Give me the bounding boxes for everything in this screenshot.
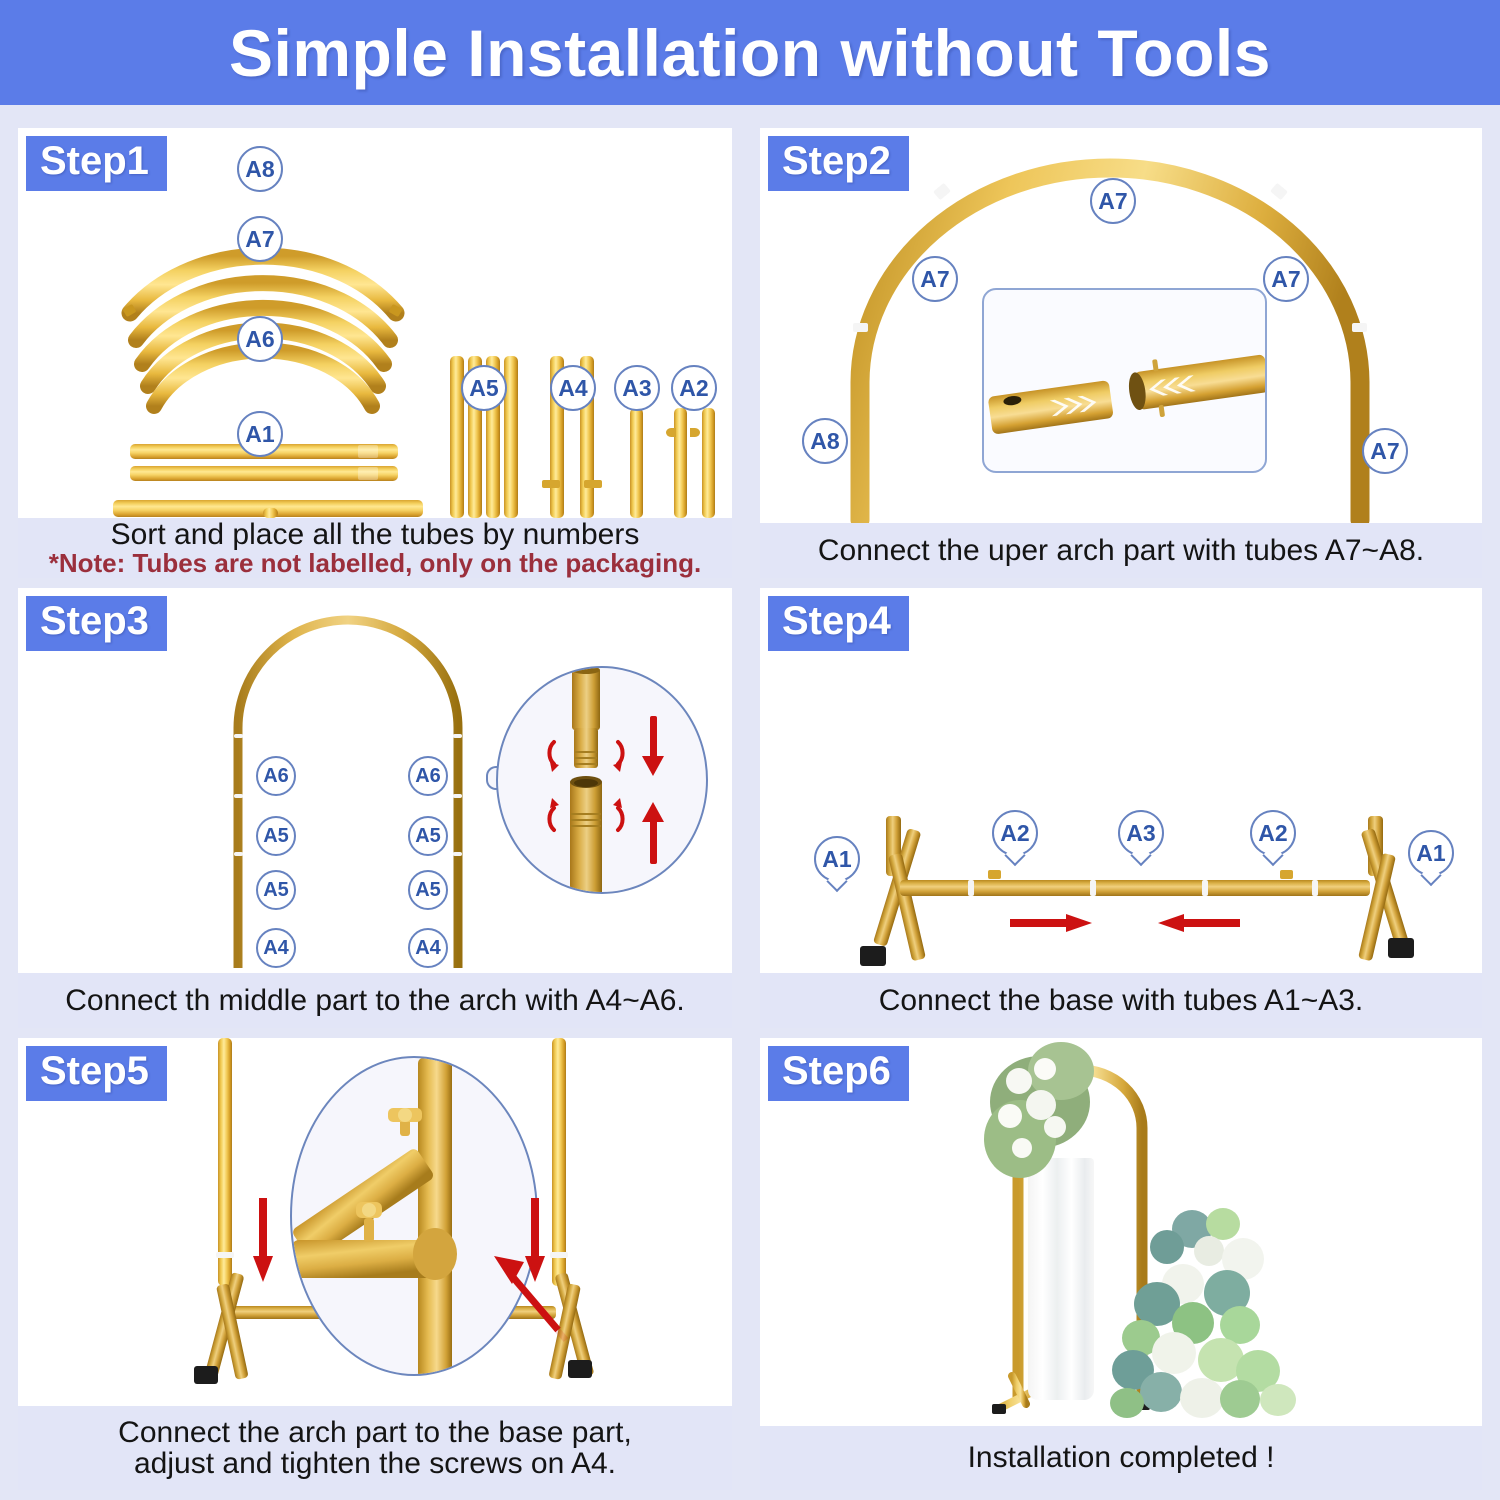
callout-a7-left: A7 bbox=[912, 256, 958, 302]
callout-a2: A2 bbox=[671, 365, 717, 411]
tube-a2 bbox=[702, 408, 715, 518]
balloon bbox=[1260, 1384, 1296, 1416]
tube-clip-icon bbox=[666, 428, 676, 437]
step6-panel: Step6 Installation completed ! bbox=[760, 1038, 1482, 1490]
arrow-down-left-icon bbox=[250, 1198, 278, 1284]
callout-a8-bottom-left: A8 bbox=[802, 418, 848, 464]
callout-a5: A5 bbox=[461, 365, 507, 411]
callout-left-a5: A5 bbox=[256, 816, 296, 856]
step4-caption: Connect the base with tubes A1~A3. bbox=[760, 973, 1482, 1028]
tube-a5 bbox=[504, 356, 518, 518]
step3-caption: Connect th middle part to the arch with … bbox=[18, 973, 732, 1028]
segment-joint-mark bbox=[234, 852, 243, 856]
segment-joint-mark bbox=[453, 734, 462, 738]
step1-badge: Step1 bbox=[26, 136, 167, 191]
thumb-screw-upper bbox=[388, 1108, 422, 1136]
step1-caption-line: Sort and place all the tubes by numbers bbox=[111, 519, 640, 550]
callout-a1-right: A1 bbox=[1408, 830, 1454, 876]
callout-right-a6: A6 bbox=[408, 756, 448, 796]
base-right-foot-cap bbox=[1388, 938, 1414, 958]
balloon bbox=[1152, 1332, 1196, 1374]
tube-coupling-band bbox=[1352, 323, 1367, 332]
step2-caption-line: Connect the uper arch part with tubes A7… bbox=[818, 535, 1424, 566]
balloon bbox=[1110, 1388, 1144, 1418]
callout-a7-bottom-right: A7 bbox=[1362, 428, 1408, 474]
crossbar-joint bbox=[1202, 880, 1208, 896]
white-flower bbox=[998, 1104, 1022, 1128]
segment-joint-mark bbox=[453, 852, 462, 856]
callout-right-a5: A5 bbox=[408, 816, 448, 856]
balloon bbox=[1180, 1378, 1224, 1418]
step4-badge: Step4 bbox=[768, 596, 909, 651]
callout-left-a6: A6 bbox=[256, 756, 296, 796]
frame-left-upright bbox=[218, 1038, 232, 1286]
arrow-left-icon bbox=[1152, 910, 1242, 938]
step3-caption-line: Connect th middle part to the arch with … bbox=[65, 985, 685, 1016]
step2-caption: Connect the uper arch part with tubes A7… bbox=[760, 523, 1482, 578]
crossbar-joint bbox=[968, 880, 974, 896]
step6-caption: Installation completed ! bbox=[760, 1426, 1482, 1490]
arrow-pointer-up-left-icon bbox=[470, 1234, 578, 1346]
crossbar-screw-icon bbox=[988, 870, 1001, 879]
frame-base-left-foot-cap bbox=[194, 1366, 218, 1384]
step2-connection-detail-inset bbox=[982, 288, 1267, 473]
tube-a3 bbox=[630, 408, 643, 518]
tube-twist-insert-detail-drawing bbox=[498, 668, 708, 894]
callout-a2-left: A2 bbox=[992, 810, 1038, 856]
callout-a7: A7 bbox=[237, 216, 283, 262]
step3-panel: A6 A5 A5 A4 A6 A5 A5 A4 bbox=[18, 588, 732, 1028]
callout-a4: A4 bbox=[550, 365, 596, 411]
white-flower bbox=[1044, 1116, 1066, 1138]
step5-caption: Connect the arch part to the base part, … bbox=[18, 1406, 732, 1490]
frame-base-right-foot-cap bbox=[568, 1360, 592, 1378]
white-chiffon-drape bbox=[1028, 1158, 1094, 1400]
tube-coupling-detail-drawing bbox=[984, 290, 1267, 473]
tube-knurl-band bbox=[358, 445, 378, 458]
callout-right-a4: A4 bbox=[408, 928, 448, 968]
balloon bbox=[1140, 1372, 1182, 1412]
upright-joint-band-left bbox=[216, 1252, 234, 1258]
callout-a3: A3 bbox=[614, 365, 660, 411]
installation-guide-sheet: Simple Installation without Tools bbox=[0, 0, 1500, 1500]
white-floral-swag bbox=[982, 1042, 1102, 1182]
callout-left-a4: A4 bbox=[256, 928, 296, 968]
segment-joint-mark bbox=[234, 734, 243, 738]
balloon bbox=[1150, 1230, 1184, 1264]
step6-badge: Step6 bbox=[768, 1046, 909, 1101]
thumb-screw-icon bbox=[584, 480, 602, 488]
base-left-foot-cap bbox=[860, 946, 886, 966]
step5-panel: Step5 Connect the arch part to the base … bbox=[18, 1038, 732, 1490]
step6-caption-line: Installation completed ! bbox=[968, 1442, 1275, 1473]
balloon bbox=[1220, 1380, 1260, 1418]
tube-coupling-band bbox=[853, 323, 868, 332]
arrow-right-icon bbox=[1010, 910, 1100, 938]
callout-a6: A6 bbox=[237, 316, 283, 362]
callout-a2-right: A2 bbox=[1250, 810, 1296, 856]
segment-joint-mark bbox=[453, 794, 462, 798]
crossbar-screw-icon bbox=[1280, 870, 1293, 879]
tube-clip-icon bbox=[690, 428, 700, 437]
step3-badge: Step3 bbox=[26, 596, 167, 651]
callout-a8: A8 bbox=[237, 146, 283, 192]
white-flower bbox=[1034, 1058, 1056, 1080]
step4-caption-line: Connect the base with tubes A1~A3. bbox=[879, 985, 1364, 1016]
step2-panel: A7 A7 A7 A8 A7 Step2 Connect the uper ar… bbox=[760, 128, 1482, 578]
green-white-balloon-garland bbox=[1110, 1208, 1320, 1418]
tube-a1-stem bbox=[263, 508, 278, 518]
step1-panel: A8 A7 A6 A1 A5 A4 A3 A2 Step1 Sort and p… bbox=[18, 128, 732, 578]
callout-a3-center: A3 bbox=[1118, 810, 1164, 856]
step2-badge: Step2 bbox=[768, 136, 909, 191]
step5-badge: Step5 bbox=[26, 1046, 167, 1101]
page-title: Simple Installation without Tools bbox=[229, 15, 1271, 91]
step5-caption-line-1: Connect the arch part to the base part, bbox=[118, 1417, 632, 1448]
step4-panel: A1 A2 A3 A2 A1 Step4 Connect the base wi… bbox=[760, 588, 1482, 1028]
tube-knurl-band bbox=[358, 467, 378, 480]
step5-caption-line-2: adjust and tighten the screws on A4. bbox=[134, 1448, 616, 1479]
white-flower bbox=[1006, 1068, 1032, 1094]
thumb-screw-icon bbox=[542, 480, 560, 488]
segment-joint-mark bbox=[234, 794, 243, 798]
crossbar-joint bbox=[1090, 880, 1096, 896]
step1-caption: Sort and place all the tubes by numbers … bbox=[18, 518, 732, 578]
callout-left-a5-lower: A5 bbox=[256, 870, 296, 910]
step1-caption-note: *Note: Tubes are not labelled, only on t… bbox=[49, 550, 702, 577]
balloon bbox=[1194, 1236, 1224, 1266]
white-flower bbox=[1012, 1138, 1032, 1158]
callout-a7-right: A7 bbox=[1263, 256, 1309, 302]
callout-a1: A1 bbox=[237, 411, 283, 457]
callout-a1-left: A1 bbox=[814, 836, 860, 882]
callout-a7-top: A7 bbox=[1090, 178, 1136, 224]
crossbar-joint bbox=[1312, 880, 1318, 896]
step3-joint-detail-inset bbox=[496, 666, 708, 894]
tube-a2 bbox=[674, 408, 687, 518]
callout-right-a5-lower: A5 bbox=[408, 870, 448, 910]
page-header: Simple Installation without Tools bbox=[0, 0, 1500, 105]
